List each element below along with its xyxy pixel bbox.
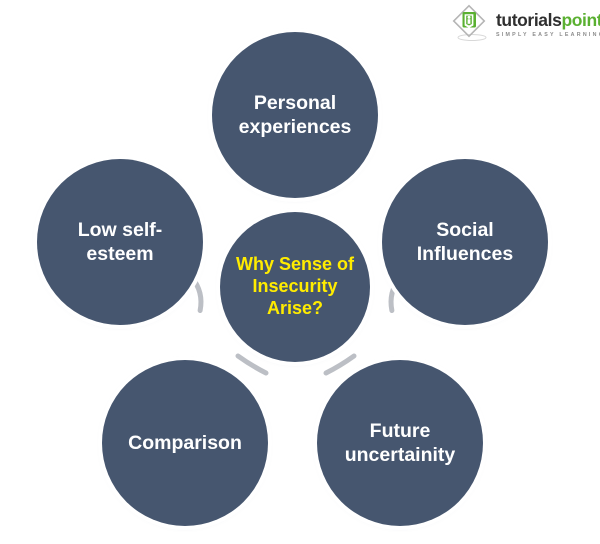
diagram-node-future-uncertainity[interactable]: Future uncertainity bbox=[317, 360, 483, 526]
logo-name-part1: tutorials bbox=[496, 10, 561, 30]
node-label: Future uncertainity bbox=[317, 419, 483, 468]
logo-tagline: SIMPLY EASY LEARNING bbox=[496, 33, 600, 38]
diagram-node-low-self-esteem[interactable]: Low self-esteem bbox=[37, 159, 203, 325]
diagram-center-node[interactable]: Why Sense of Insecurity Arise? bbox=[220, 212, 370, 362]
node-label: Low self-esteem bbox=[37, 218, 203, 267]
node-label: Social Influences bbox=[382, 218, 548, 267]
diamond-book-logo-icon bbox=[452, 4, 492, 44]
diagram-canvas: tutorialspoint SIMPLY EASY LEARNING Pers… bbox=[0, 0, 600, 544]
tutorialspoint-logo: tutorialspoint SIMPLY EASY LEARNING bbox=[452, 4, 596, 44]
node-label: Personal experiences bbox=[212, 91, 378, 140]
node-label: Comparison bbox=[118, 431, 252, 455]
arc-left-center bbox=[192, 277, 204, 311]
logo-wordmark: tutorialspoint SIMPLY EASY LEARNING bbox=[496, 10, 600, 38]
logo-name-part2: point bbox=[561, 10, 600, 30]
diagram-node-social-influences[interactable]: Social Influences bbox=[382, 159, 548, 325]
diagram-node-comparison[interactable]: Comparison bbox=[102, 360, 268, 526]
arc-botleft-center bbox=[238, 356, 266, 373]
diagram-node-personal-experiences[interactable]: Personal experiences bbox=[212, 32, 378, 198]
center-node-label: Why Sense of Insecurity Arise? bbox=[220, 254, 370, 320]
arc-botright-center bbox=[326, 356, 354, 373]
